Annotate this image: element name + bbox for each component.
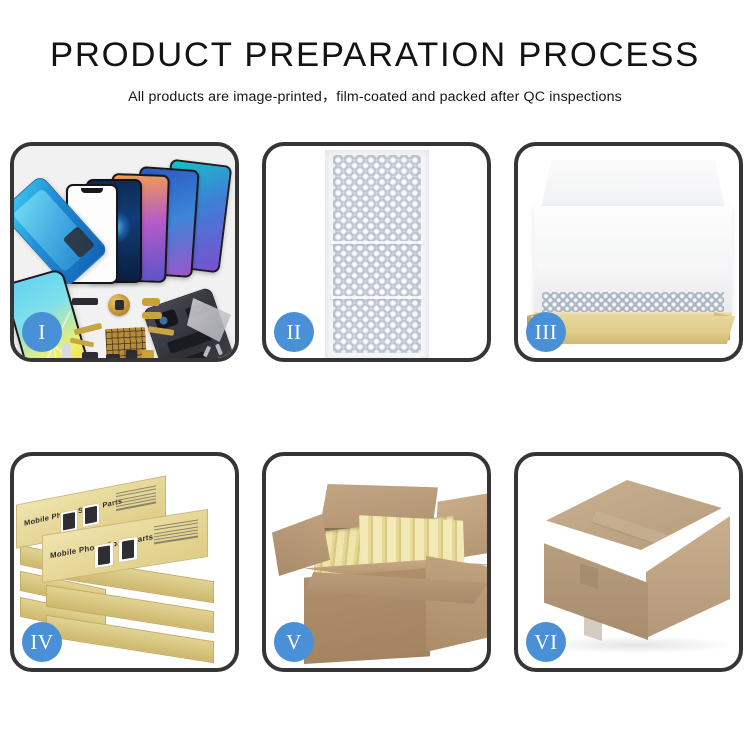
- sleeve-seam-1: [331, 241, 423, 244]
- step-badge-5: V: [274, 622, 314, 662]
- step-panel-2[interactable]: II: [262, 142, 491, 362]
- small-part-2: [142, 298, 160, 306]
- product-preparation-infographic: PRODUCT PREPARATION PROCESS All products…: [0, 0, 750, 750]
- sleeve-seam-2: [331, 296, 423, 299]
- page-subtitle: All products are image-printed，film-coat…: [0, 86, 750, 106]
- small-part-3: [142, 312, 162, 319]
- box-lid-back: [540, 160, 726, 212]
- small-part-1: [72, 298, 98, 305]
- step-panel-6[interactable]: VI: [514, 452, 743, 672]
- step-panel-5[interactable]: V: [262, 452, 491, 672]
- small-part-8: [142, 350, 154, 358]
- step-badge-4: IV: [22, 622, 62, 662]
- small-part-4: [82, 352, 98, 358]
- bubble-wrap-sheet: [333, 155, 421, 353]
- small-part-6: [126, 350, 137, 358]
- step-panel-4[interactable]: Mobile Phone Spare Parts Mobi: [10, 452, 239, 672]
- carton-right-face: [426, 556, 487, 652]
- box-product-photo-4: [118, 536, 138, 563]
- steps-grid: I II: [10, 142, 743, 672]
- step-panel-3[interactable]: III: [514, 142, 743, 362]
- speaker-coil: [108, 294, 130, 316]
- step-badge-3: III: [526, 312, 566, 352]
- step-panel-1[interactable]: I: [10, 142, 239, 362]
- steps-row-top: I II: [10, 142, 743, 362]
- step-badge-6: VI: [526, 622, 566, 662]
- header: PRODUCT PREPARATION PROCESS All products…: [0, 0, 750, 106]
- page-title: PRODUCT PREPARATION PROCESS: [0, 38, 750, 72]
- box-product-photo-3: [94, 542, 114, 569]
- step-badge-1: I: [22, 312, 62, 352]
- small-part-5: [106, 354, 120, 358]
- carton-shadow: [538, 636, 734, 654]
- step-badge-2: II: [274, 312, 314, 352]
- small-part-7: [62, 344, 71, 358]
- steps-row-bottom: Mobile Phone Spare Parts Mobi: [10, 452, 743, 672]
- phone-notch: [81, 188, 103, 193]
- box-product-photo-2: [82, 502, 100, 527]
